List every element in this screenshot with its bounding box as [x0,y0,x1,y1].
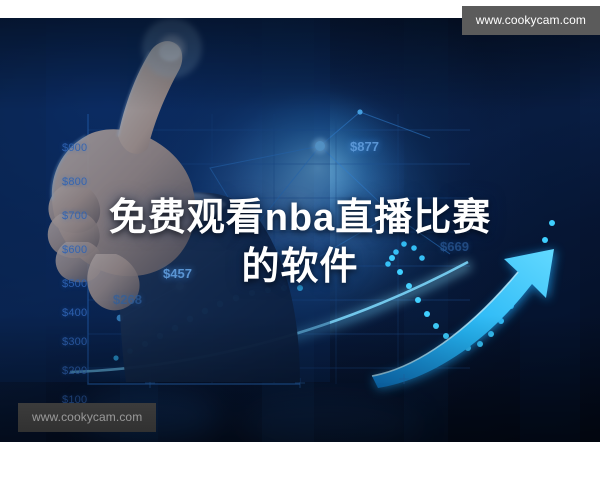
y-axis-label-800: $800 [62,176,87,188]
title-line-2: 的软件 [0,243,600,292]
data-label-877: $877 [350,139,379,154]
watermark-bottom-left: www.cookycam.com [18,403,156,432]
hero-image: $900 $800 $700 $600 $500 $400 $300 $200 … [0,18,600,442]
watermark-top-right: www.cookycam.com [462,6,600,35]
y-axis-label-300: $300 [62,336,87,348]
y-axis-label-900: $900 [62,142,87,154]
y-axis-label-200: $200 [62,365,87,377]
data-label-268: $268 [113,292,142,307]
y-axis-label-400: $400 [62,307,87,319]
image-canvas: $900 $800 $700 $600 $500 $400 $300 $200 … [0,0,600,480]
page-title: 免费观看nba直播比赛 的软件 [0,194,600,292]
title-line-1: 免费观看nba直播比赛 [0,194,600,243]
